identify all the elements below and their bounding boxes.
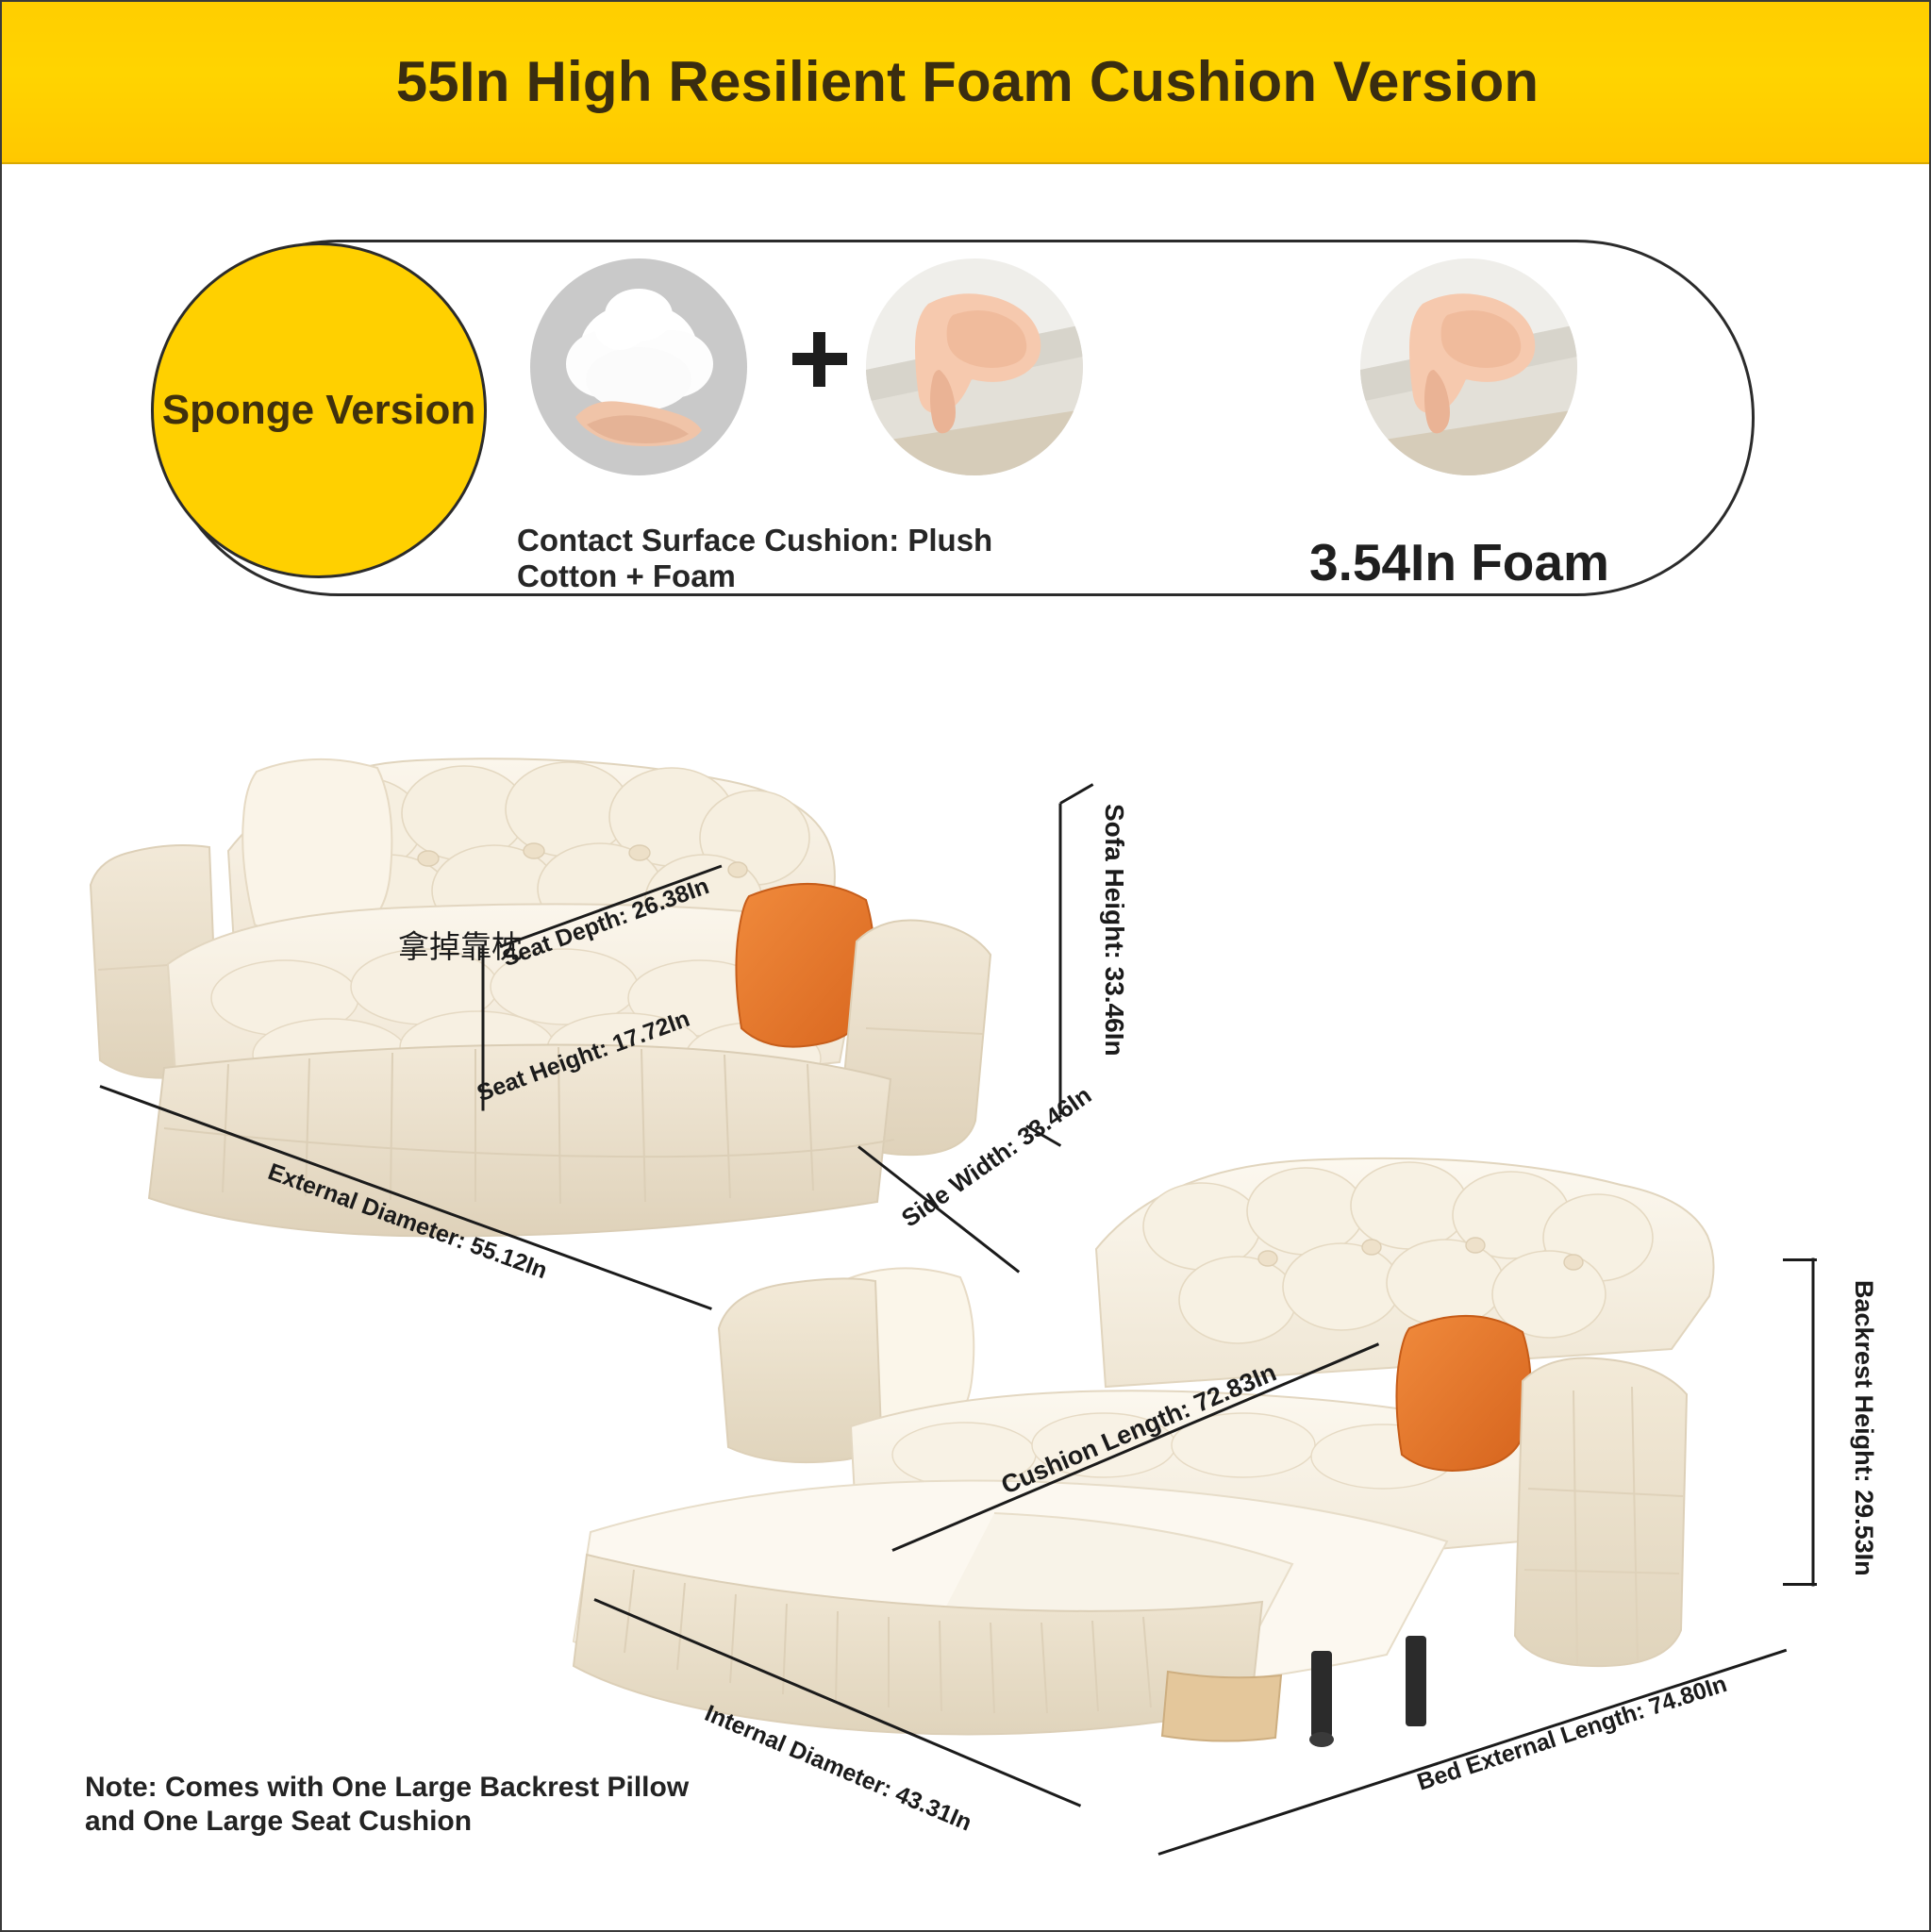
sponge-version-label: Sponge Version (162, 388, 476, 433)
sponge-version-badge: Sponge Version (151, 242, 487, 578)
hand-pressing-foam-photo-2 (1360, 258, 1577, 475)
plush-cotton-photo (530, 258, 747, 475)
plus-icon (792, 332, 847, 387)
hand-pressing-foam-photo-1 (866, 258, 1083, 475)
label-sofa-height: Sofa Height: 33.46In (1099, 804, 1129, 1057)
dim-line-backrest-height-top-tick (1783, 1258, 1817, 1261)
dim-line-backrest-height-bottom-tick (1783, 1583, 1817, 1586)
contact-surface-caption: Contact Surface Cushion: Plush Cotton + … (517, 523, 1045, 595)
dim-line-sofa-height-vertical (1059, 804, 1062, 1115)
foam-thickness-caption: 3.54In Foam (1309, 532, 1609, 592)
infographic-page: 55In High Resilient Foam Cushion Version… (0, 0, 1931, 1932)
label-remove-cushion-chinese: 拿掉靠枕 (398, 922, 523, 967)
sofa-bed-product-image (568, 1143, 1804, 1794)
footer-note: Note: Comes with One Large Backrest Pill… (85, 1771, 745, 1839)
label-backrest-height: Backrest Height: 29.53In (1849, 1280, 1878, 1576)
dim-line-backrest-height-vertical (1812, 1258, 1815, 1587)
page-title: 55In High Resilient Foam Cushion Version (396, 54, 1540, 110)
header-banner: 55In High Resilient Foam Cushion Version (2, 2, 1931, 164)
